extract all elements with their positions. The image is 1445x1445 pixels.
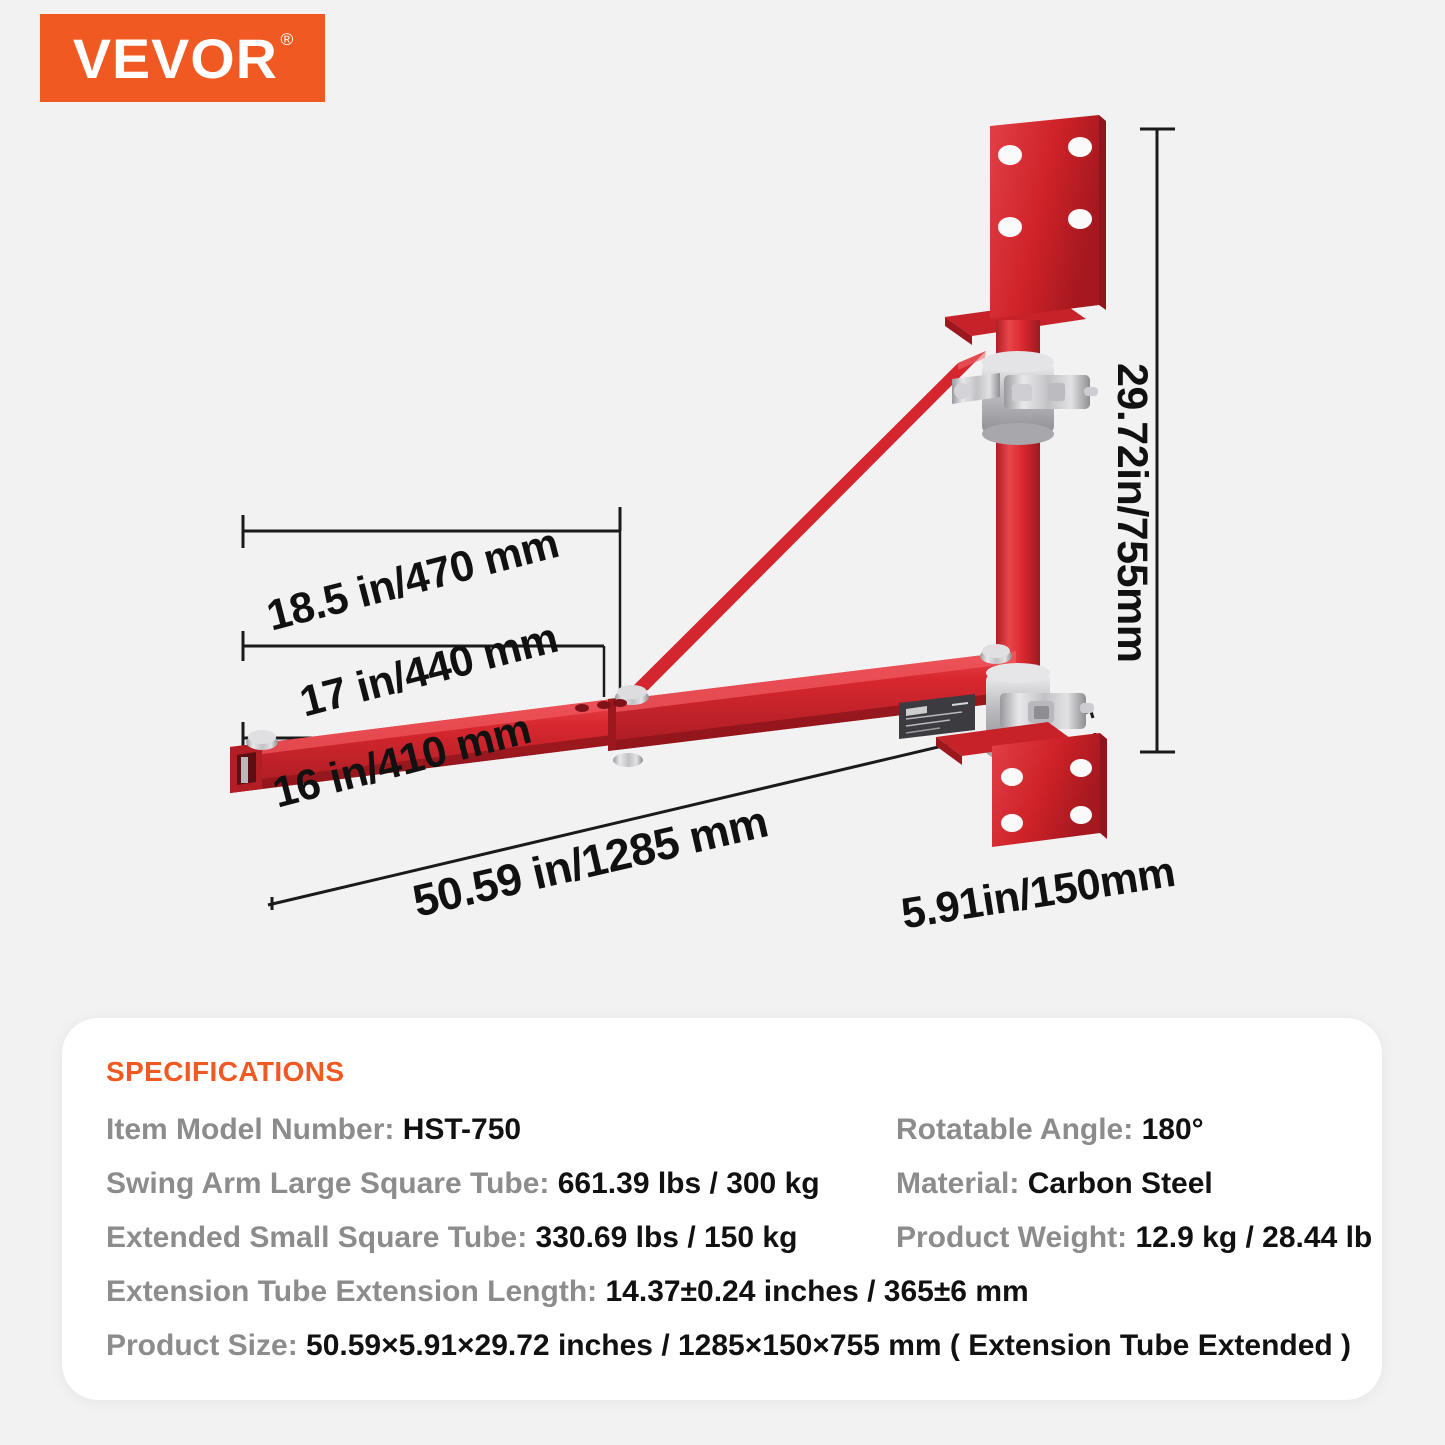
dim-label-755: 29.72in/755mm [1107,363,1156,662]
brand-name: VEVOR [73,27,278,90]
extension-end-bolt [246,730,278,750]
spec-value: HST-750 [403,1113,521,1146]
spec-row-item-model-number: Item Model Number: HST-750 [106,1106,896,1154]
spec-row-product-size: Product Size: 50.59×5.91×29.72 inches / … [106,1322,1372,1370]
dim-line-470 [243,507,620,548]
arm-pivot-bolt [980,644,1012,664]
joint-bolt-bottom [613,753,643,767]
specifications-grid: Item Model Number: HST-750 Rotatable Ang… [106,1106,1338,1370]
spec-label: Material: [896,1167,1019,1200]
spec-label: Rotatable Angle: [896,1113,1133,1146]
vevor-logo-text: VEVOR ® [73,26,292,91]
adjustment-hole-1 [575,704,589,712]
top-wall-mount-plate [945,115,1106,345]
spec-value: Carbon Steel [1028,1167,1213,1200]
spec-row-material: Material: Carbon Steel [896,1160,1372,1208]
diagonal-brace [620,351,986,699]
product-illustration: 18.5 in/470 mm 17 in/440 mm 16 in/410 mm… [0,105,1445,985]
spec-value: 14.37±0.24 inches / 365±6 mm [605,1275,1028,1308]
spec-label: Extension Tube Extension Length: [106,1275,597,1308]
spec-row-rotatable-angle: Rotatable Angle: 180° [896,1106,1372,1154]
spec-row-extended-small-square-tube: Extended Small Square Tube: 330.69 lbs /… [106,1214,896,1262]
spec-value: 661.39 lbs / 300 kg [558,1167,820,1200]
spec-label: Swing Arm Large Square Tube: [106,1167,549,1200]
spec-row-swing-arm-large-square-tube: Swing Arm Large Square Tube: 661.39 lbs … [106,1160,896,1208]
spec-row-product-weight: Product Weight: 12.9 kg / 28.44 lb [896,1214,1372,1262]
specifications-heading: SPECIFICATIONS [106,1056,1338,1088]
spec-label: Product Weight: [896,1221,1127,1254]
spec-label: Item Model Number: [106,1113,394,1146]
spec-row-extension-tube-extension-length: Extension Tube Extension Length: 14.37±0… [106,1268,1372,1316]
product-spec-page: VEVOR ® [0,0,1445,1445]
vevor-logo: VEVOR ® [40,14,325,102]
adjustment-hole-2 [597,701,611,709]
specifications-card: SPECIFICATIONS Item Model Number: HST-75… [62,1018,1382,1400]
spec-value: 12.9 kg / 28.44 lb [1135,1221,1372,1254]
top-rotating-clamp [952,351,1098,445]
bottom-wall-mount-plate [936,722,1107,847]
spec-label: Product Size: [106,1329,298,1362]
spec-value: 330.69 lbs / 150 kg [536,1221,798,1254]
adjustment-hole-3 [613,699,627,707]
registered-trademark-icon: ® [280,30,294,50]
spec-value: 50.59×5.91×29.72 inches / 1285×150×755 m… [306,1329,1351,1362]
spec-label: Extended Small Square Tube: [106,1221,527,1254]
spec-value: 180° [1142,1113,1204,1146]
